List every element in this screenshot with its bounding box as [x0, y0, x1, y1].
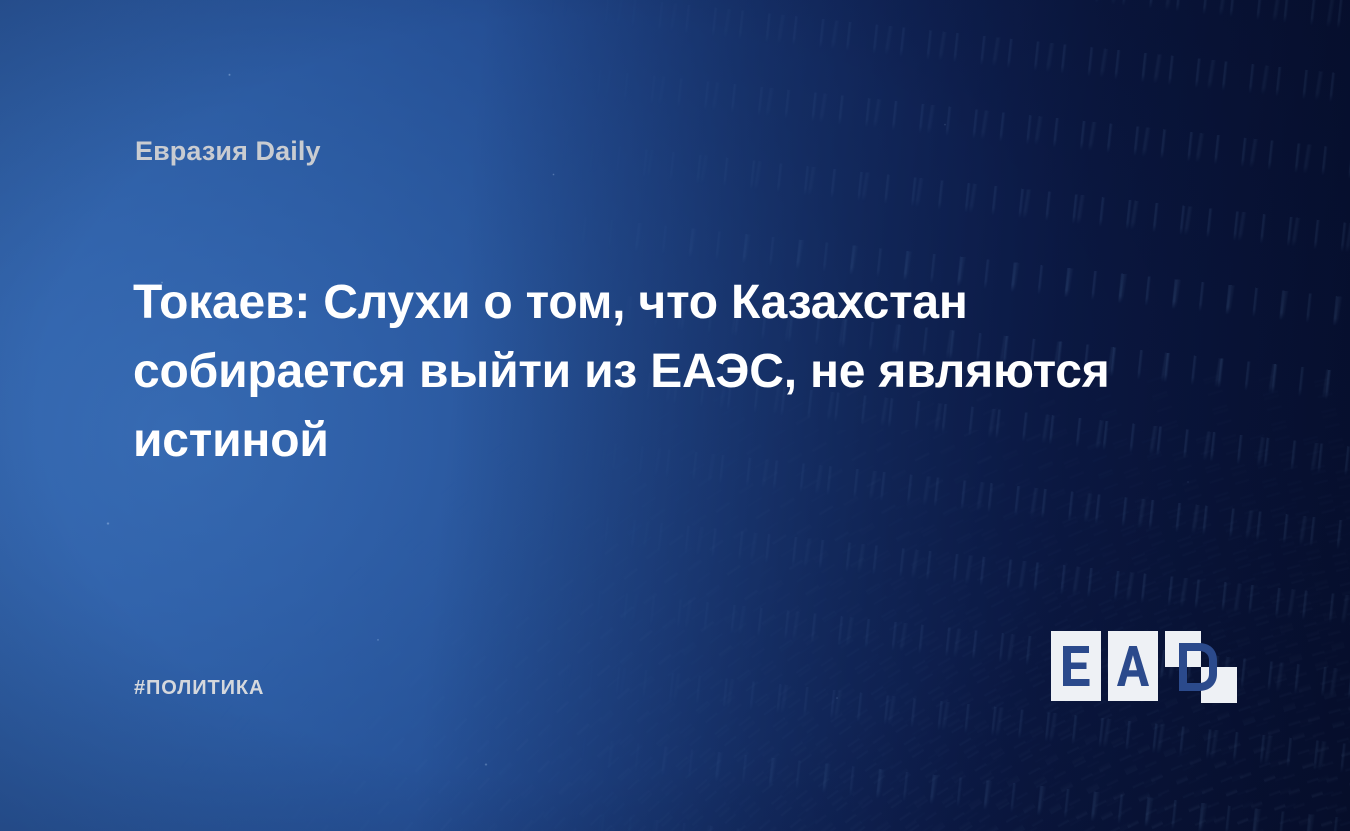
category-tag: #ПОЛИТИКА: [134, 677, 264, 700]
eadaily-logo: [1051, 631, 1231, 703]
logo-tile-a: [1108, 631, 1158, 701]
social-share-card: Евразия Daily Токаев: Слухи о том, что К…: [0, 0, 1350, 831]
site-name: Евразия Daily: [135, 136, 321, 167]
logo-tile-e: [1051, 631, 1101, 701]
logo-letter-e-icon: [1061, 645, 1091, 687]
card-content: Евразия Daily Токаев: Слухи о том, что К…: [0, 0, 1350, 831]
logo-letter-a-icon: [1116, 645, 1150, 687]
logo-letter-d-icon: [1165, 631, 1237, 703]
article-headline: Токаев: Слухи о том, что Казахстан собир…: [133, 268, 1243, 475]
logo-tile-d: [1165, 631, 1237, 703]
